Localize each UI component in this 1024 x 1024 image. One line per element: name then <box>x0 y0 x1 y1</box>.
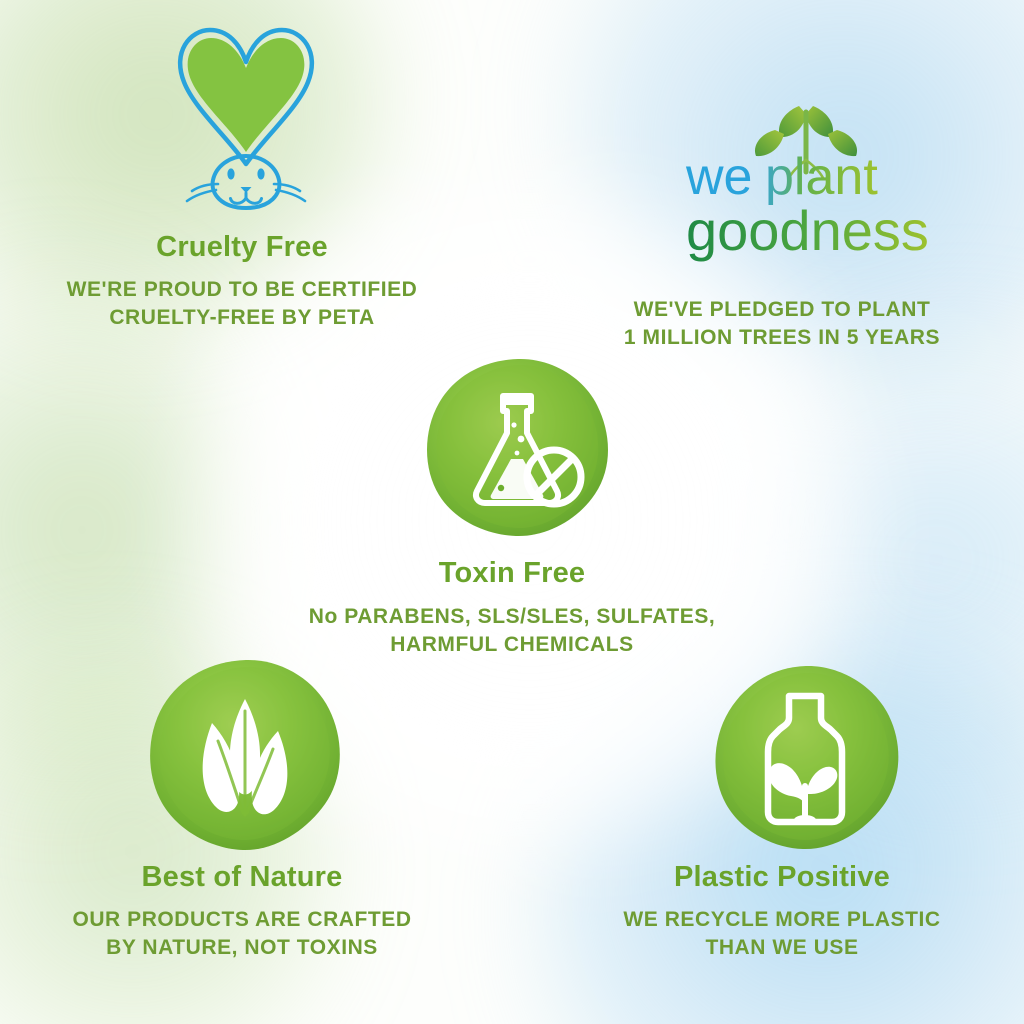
logo-word-we: we <box>685 148 752 206</box>
logo-word-goodness: goodness <box>686 199 929 262</box>
feature-title: Best of Nature <box>12 862 472 894</box>
bunny-heart-ears-icon <box>160 24 332 216</box>
feature-title: Toxin Free <box>282 558 742 590</box>
three-leaves-icon <box>140 655 350 863</box>
feature-subtitle: No PARABENS, SLS/SLES, SULFATES, HARMFUL… <box>282 603 742 658</box>
feature-subtitle: WE'RE PROUD TO BE CERTIFIED CRUELTY-FREE… <box>12 276 472 331</box>
feature-title: Plastic Positive <box>552 862 1012 894</box>
feature-toxin-free: Toxin Free No PARABENS, SLS/SLES, SULFAT… <box>282 558 742 658</box>
infographic-canvas: we plant goodness <box>0 0 1024 1024</box>
feature-subtitle: OUR PRODUCTS ARE CRAFTED BY NATURE, NOT … <box>12 906 472 961</box>
logo-word-plant: plant <box>765 148 878 206</box>
feature-subtitle: WE'VE PLEDGED TO PLANT 1 MILLION TREES I… <box>552 296 1012 351</box>
feature-cruelty-free: Cruelty Free WE'RE PROUD TO BE CERTIFIED… <box>12 232 472 331</box>
feature-best-of-nature: Best of Nature OUR PRODUCTS ARE CRAFTED … <box>12 862 472 961</box>
feature-plastic-positive: Plastic Positive WE RECYCLE MORE PLASTIC… <box>552 862 1012 961</box>
feature-title: Cruelty Free <box>12 232 472 264</box>
feature-we-plant-goodness: WE'VE PLEDGED TO PLANT 1 MILLION TREES I… <box>552 284 1012 351</box>
bottle-sprout-icon <box>705 662 905 862</box>
feature-subtitle: WE RECYCLE MORE PLASTIC THAN WE USE <box>552 906 1012 961</box>
flask-no-entry-icon <box>417 355 621 541</box>
we-plant-goodness-logo: we plant goodness <box>680 98 966 266</box>
